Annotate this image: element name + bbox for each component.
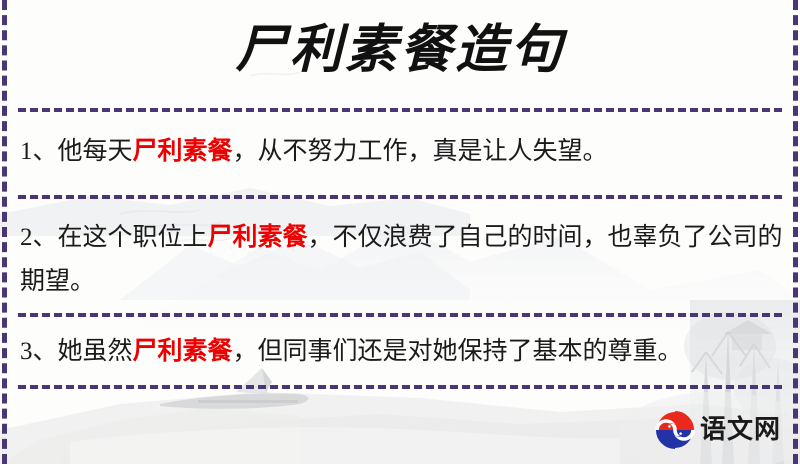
sentence-3-index: 3、 [20, 338, 58, 365]
example-sentence-2: 2、在这个职位上尸利素餐，不仅浪费了自己的时间，也辜负了公司的期望。 [20, 216, 784, 304]
sentence-1-before: 他每天 [58, 138, 133, 165]
sentence-1-after: ，从不努力工作，真是让人失望。 [233, 138, 608, 165]
sentence-2-idiom: 尸利素餐 [208, 224, 308, 251]
slide-canvas: 尸利素餐造句 1、他每天尸利素餐，从不努力工作，真是让人失望。 2、在这个职位上… [0, 0, 800, 464]
yinyang-fish-logo-icon [655, 410, 695, 450]
example-sentence-3: 3、她虽然尸利素餐，但同事们还是对她保持了基本的尊重。 [20, 330, 784, 374]
sentence-3-idiom: 尸利素餐 [133, 338, 233, 365]
site-logo-text: 语文网 [700, 417, 781, 443]
divider-after-sentence-2 [18, 313, 782, 317]
sentence-3-after: ，但同事们还是对她保持了基本的尊重。 [233, 338, 683, 365]
sentence-1-idiom: 尸利素餐 [133, 138, 233, 165]
sentence-3-before: 她虽然 [58, 338, 133, 365]
sentence-2-index: 2、 [20, 224, 58, 251]
sentence-1-index: 1、 [20, 138, 58, 165]
example-sentence-1: 1、他每天尸利素餐，从不努力工作，真是让人失望。 [20, 130, 784, 174]
divider-after-sentence-3 [18, 385, 782, 389]
sentence-2-before: 在这个职位上 [58, 224, 208, 251]
divider-after-sentence-1 [18, 195, 782, 199]
site-logo[interactable]: 语文网 [655, 410, 781, 450]
page-title: 尸利素餐造句 [0, 17, 800, 82]
divider-below-title [18, 108, 782, 112]
